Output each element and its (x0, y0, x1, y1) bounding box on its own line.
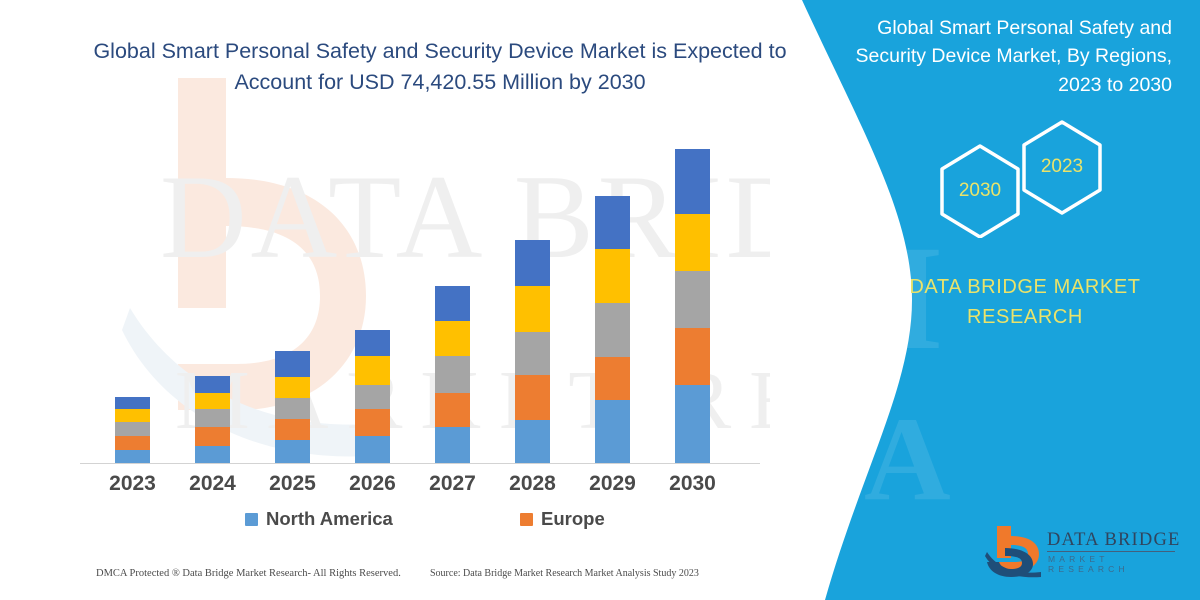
legend-swatch-icon (520, 513, 533, 526)
chart-legend: North AmericaEurope (80, 508, 770, 542)
x-label-2030: 2030 (658, 472, 728, 496)
bar-segment-series-4[interactable] (355, 356, 390, 385)
legend-label: Europe (541, 508, 605, 530)
bar-segment-series-5[interactable] (675, 149, 710, 214)
panel-brand: DATA BRIDGE MARKET RESEARCH (860, 272, 1190, 332)
bar-segment-europe[interactable] (675, 328, 710, 385)
bar-segment-series-4[interactable] (675, 214, 710, 271)
bar-segment-series-5[interactable] (515, 240, 550, 286)
bar-segment-series-3[interactable] (435, 356, 470, 393)
bar-segment-series-3[interactable] (115, 422, 150, 436)
bar-segment-series-3[interactable] (275, 398, 310, 419)
hexagon-label-2023: 2023 (1022, 156, 1102, 178)
hexagon-label-2030: 2030 (940, 180, 1020, 202)
bar-segment-series-3[interactable] (515, 332, 550, 375)
bar-segment-europe[interactable] (435, 393, 470, 427)
logo-mark-icon (985, 524, 1043, 578)
x-label-2029: 2029 (578, 472, 648, 496)
bar-segment-europe[interactable] (115, 436, 150, 450)
bar-segment-series-5[interactable] (195, 376, 230, 393)
bar-segment-europe[interactable] (195, 427, 230, 446)
bar-segment-north-america[interactable] (675, 385, 710, 463)
bar-segment-series-4[interactable] (515, 286, 550, 332)
bar-segment-series-3[interactable] (675, 271, 710, 328)
bar-segment-europe[interactable] (355, 409, 390, 436)
bar-segment-series-5[interactable] (115, 397, 150, 409)
bar-segment-series-4[interactable] (595, 249, 630, 303)
footer: DMCA Protected ® Data Bridge Market Rese… (0, 560, 830, 600)
panel-brand-line-1: DATA BRIDGE MARKET (860, 272, 1190, 302)
footer-source: Source: Data Bridge Market Research Mark… (430, 568, 699, 579)
x-label-2025: 2025 (258, 472, 328, 496)
page-title: Global Smart Personal Safety and Securit… (90, 36, 790, 97)
legend-label: North America (266, 508, 393, 530)
hexagon-badges: 2030 2023 (920, 118, 1120, 238)
footer-copyright: DMCA Protected ® Data Bridge Market Rese… (96, 568, 401, 579)
bar-segment-europe[interactable] (595, 357, 630, 400)
bar-segment-series-5[interactable] (595, 196, 630, 249)
bar-segment-series-4[interactable] (115, 409, 150, 422)
x-label-2027: 2027 (418, 472, 488, 496)
stacked-bar-chart (80, 120, 760, 468)
bar-segment-series-4[interactable] (195, 393, 230, 409)
bar-2028[interactable] (515, 240, 550, 463)
x-label-2023: 2023 (98, 472, 168, 496)
data-bridge-logo: DATA BRIDGE MARKET RESEARCH (985, 524, 1185, 580)
panel-title: Global Smart Personal Safety and Securit… (822, 14, 1172, 99)
bar-2027[interactable] (435, 286, 470, 463)
logo-text-sub: MARKET RESEARCH (1048, 554, 1185, 574)
x-axis-line (80, 463, 760, 464)
bar-2030[interactable] (675, 149, 710, 463)
bar-segment-series-5[interactable] (435, 286, 470, 321)
chart-plot-area (80, 120, 760, 464)
logo-text-main: DATA BRIDGE (1047, 530, 1181, 551)
bar-segment-series-3[interactable] (355, 385, 390, 409)
bar-segment-north-america[interactable] (355, 436, 390, 463)
x-label-2028: 2028 (498, 472, 568, 496)
bar-2024[interactable] (195, 376, 230, 463)
bar-segment-europe[interactable] (275, 419, 310, 440)
bar-segment-series-4[interactable] (435, 321, 470, 356)
hexagon-2023-icon (920, 118, 1120, 238)
legend-item-north-america[interactable]: North America (245, 508, 393, 530)
bar-segment-north-america[interactable] (515, 420, 550, 463)
bar-2023[interactable] (115, 397, 150, 463)
x-axis-tick-labels: 20232024202520262027202820292030 (80, 472, 760, 506)
legend-swatch-icon (245, 513, 258, 526)
panel-brand-line-2: RESEARCH (860, 302, 1190, 332)
bar-segment-north-america[interactable] (275, 440, 310, 463)
bar-segment-north-america[interactable] (435, 427, 470, 463)
bar-2025[interactable] (275, 351, 310, 463)
bar-segment-series-3[interactable] (195, 409, 230, 427)
bar-segment-series-5[interactable] (355, 330, 390, 356)
bar-2029[interactable] (595, 196, 630, 463)
bar-segment-series-3[interactable] (595, 303, 630, 357)
legend-item-europe[interactable]: Europe (520, 508, 605, 530)
bar-segment-north-america[interactable] (115, 450, 150, 463)
x-label-2026: 2026 (338, 472, 408, 496)
bar-segment-north-america[interactable] (195, 446, 230, 463)
infographic-canvas: DATA BRIDGE MARKET RESEARCH RI EA Global… (0, 0, 1200, 600)
x-label-2024: 2024 (178, 472, 248, 496)
bar-2026[interactable] (355, 330, 390, 463)
bar-segment-north-america[interactable] (595, 400, 630, 463)
bar-segment-europe[interactable] (515, 375, 550, 420)
logo-divider (1047, 551, 1175, 552)
bar-segment-series-4[interactable] (275, 377, 310, 398)
bar-segment-series-5[interactable] (275, 351, 310, 377)
